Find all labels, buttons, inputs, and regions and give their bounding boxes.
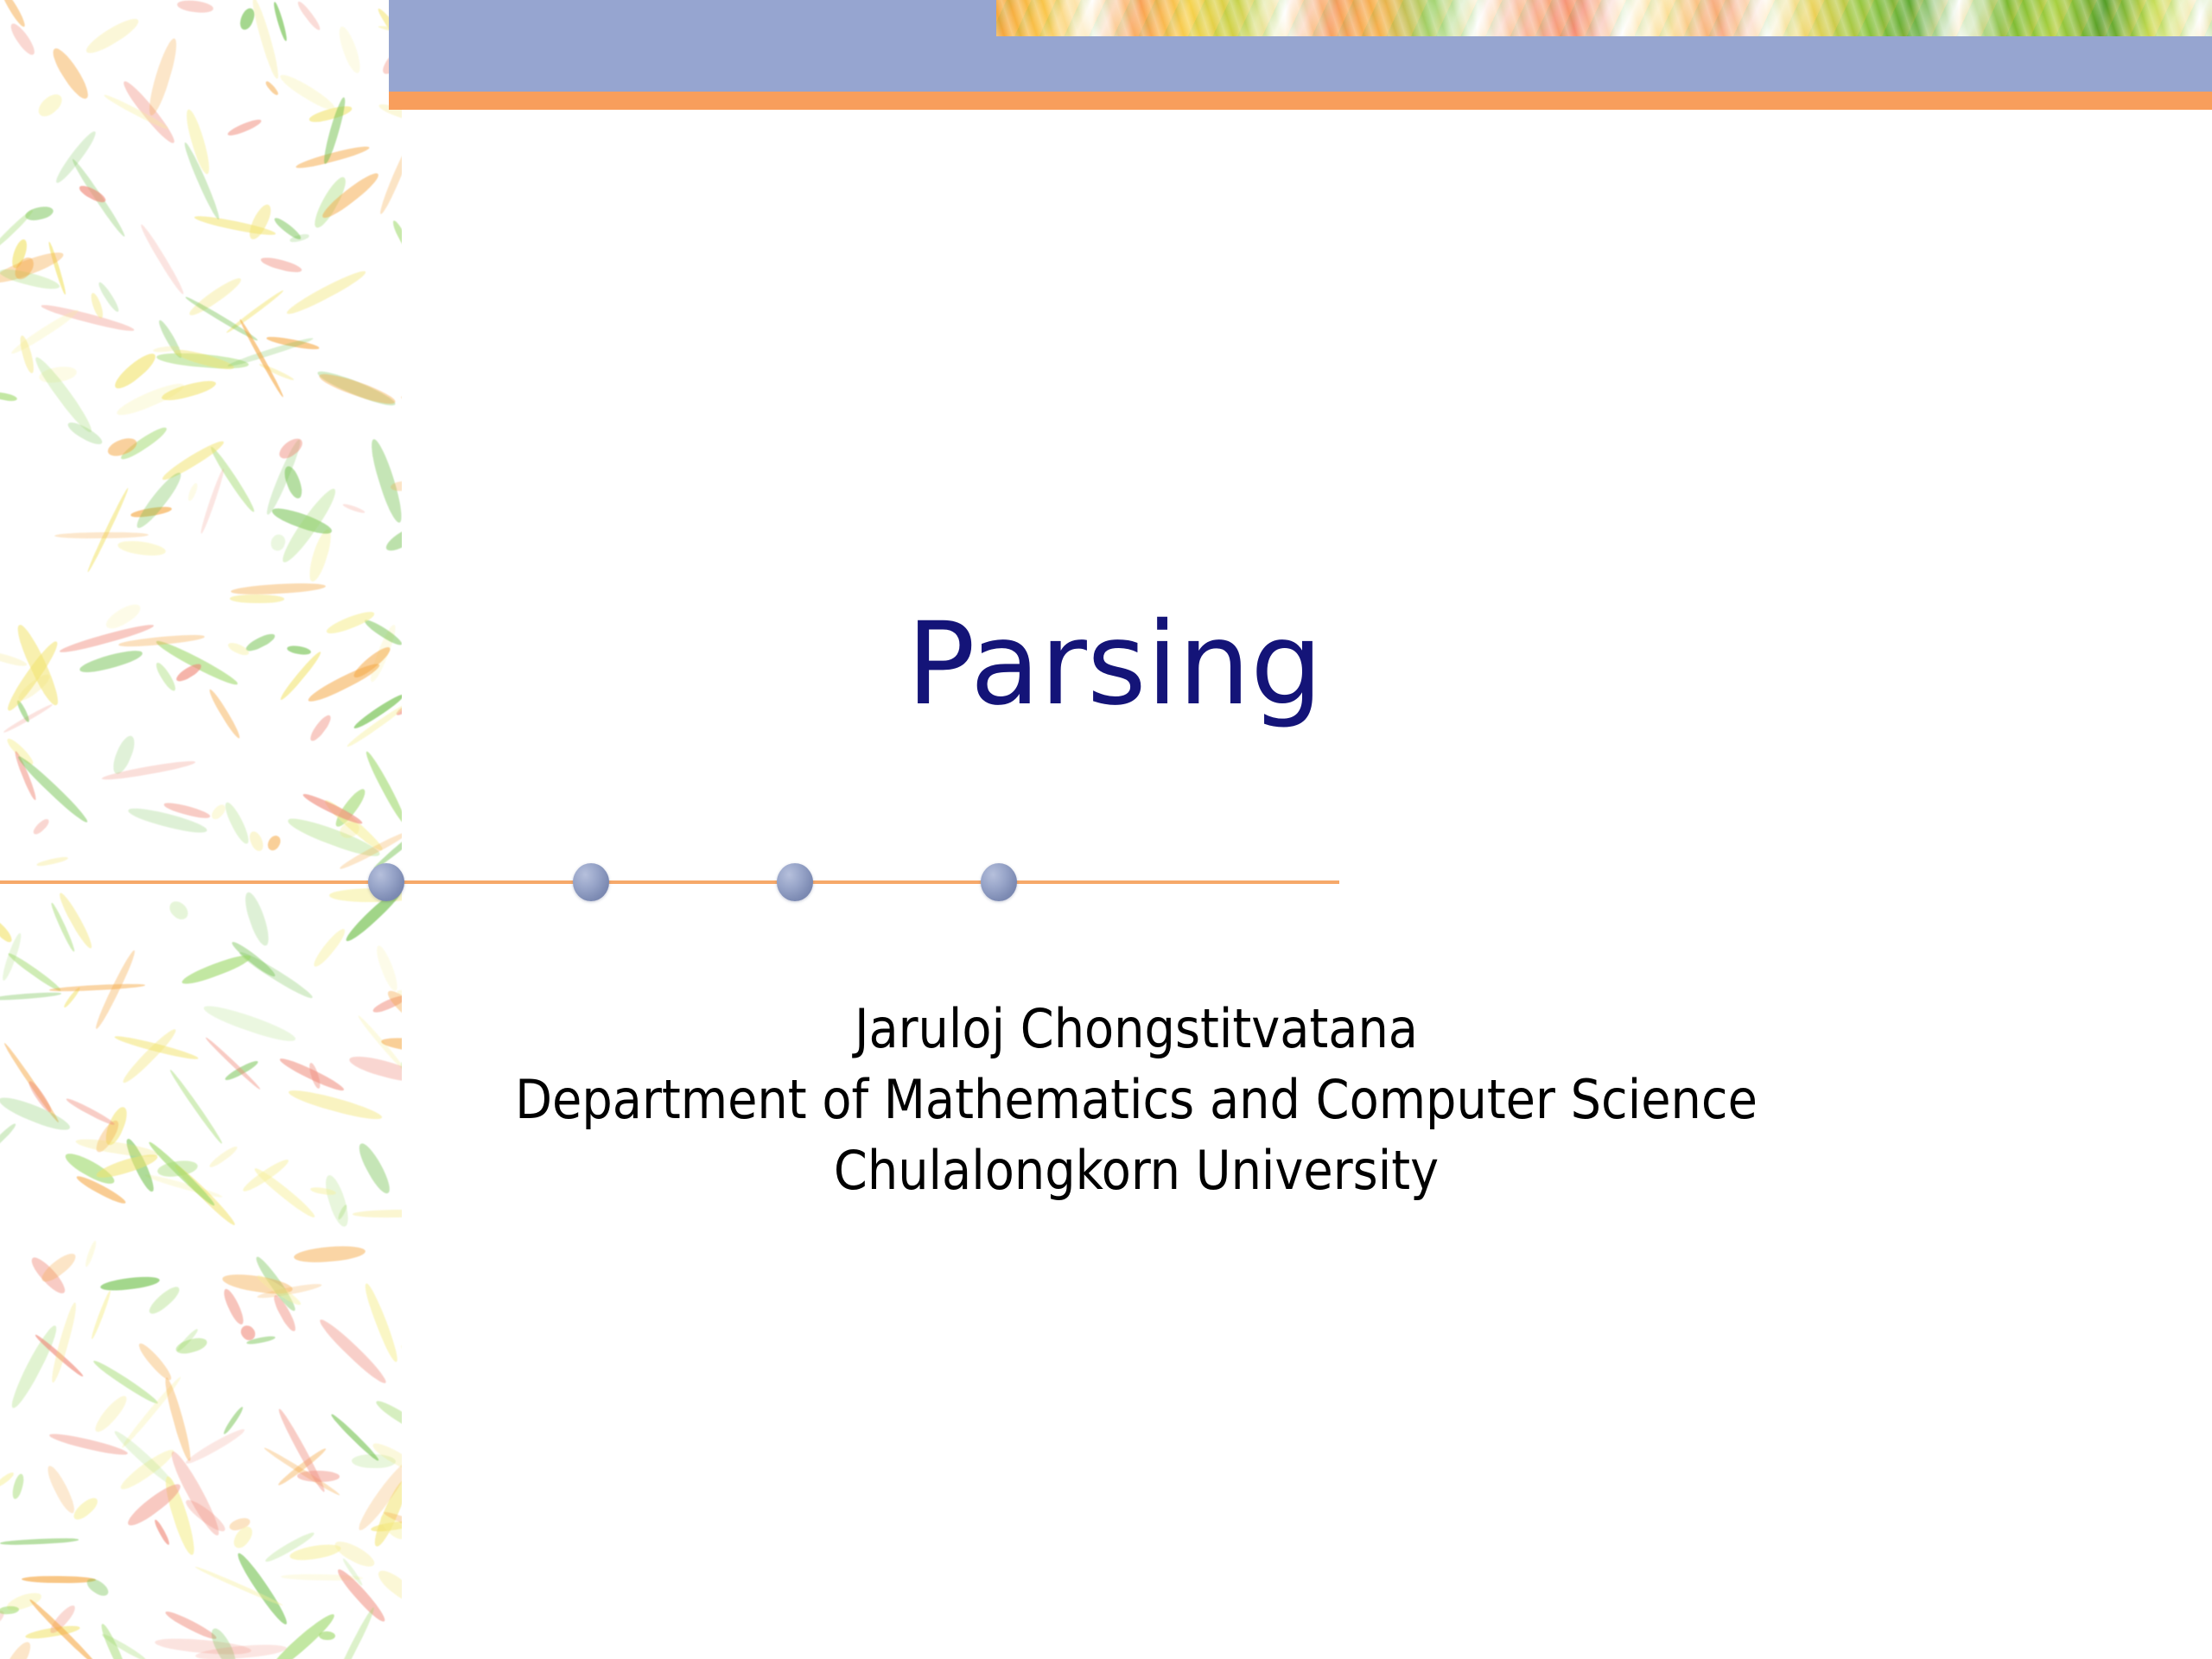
confetti-stroke: [181, 142, 222, 222]
divider-bead-1: [368, 863, 404, 901]
confetti-stroke: [297, 1471, 340, 1482]
confetti-stroke: [15, 753, 91, 826]
confetti-stroke: [222, 1406, 245, 1436]
confetti-stroke: [118, 1446, 178, 1494]
confetti-stroke: [308, 1062, 322, 1090]
confetti-stroke: [259, 255, 302, 275]
confetti-stroke: [244, 631, 276, 654]
confetti-stroke: [10, 1472, 26, 1500]
confetti-stroke: [74, 1173, 127, 1206]
confetti-stroke: [162, 1376, 194, 1462]
confetti-stroke: [332, 1606, 377, 1659]
confetti-stroke: [230, 938, 277, 979]
confetti-stroke: [160, 437, 226, 484]
confetti-stroke: [293, 1244, 365, 1265]
confetti-stroke: [276, 1408, 327, 1493]
confetti-stroke: [255, 1273, 302, 1308]
confetti-stroke: [6, 951, 62, 994]
confetti-stroke: [207, 445, 257, 514]
confetti-stroke: [0, 1122, 17, 1152]
confetti-stroke: [222, 800, 252, 846]
title-block: Parsing: [402, 605, 1827, 725]
confetti-stroke: [54, 531, 149, 539]
confetti-stroke: [36, 855, 68, 867]
confetti-stroke: [167, 1448, 225, 1539]
header-banner-band: [389, 0, 2212, 92]
confetti-stroke: [378, 1511, 402, 1542]
confetti-stroke: [373, 944, 401, 993]
colorful-abstract-photo-strip: [996, 0, 2212, 36]
confetti-stroke: [103, 600, 143, 632]
confetti-stroke: [16, 671, 54, 704]
confetti-stroke: [184, 1427, 246, 1467]
confetti-stroke: [52, 129, 99, 186]
confetti-stroke: [400, 395, 402, 428]
subtitle-university: Chulalongkorn University: [402, 1135, 1871, 1206]
confetti-stroke: [66, 419, 105, 448]
confetti-stroke: [48, 241, 68, 296]
confetti-stroke: [77, 182, 107, 205]
confetti-stroke: [309, 174, 349, 230]
confetti-stroke: [363, 750, 402, 827]
confetti-stroke: [319, 1631, 335, 1641]
confetti-stroke: [351, 644, 393, 682]
confetti-stroke: [278, 1055, 346, 1094]
confetti-stroke: [341, 1557, 364, 1586]
confetti-stroke: [311, 926, 349, 969]
confetti-stroke: [247, 829, 265, 853]
confetti-stroke: [324, 608, 376, 637]
confetti-stroke: [226, 117, 264, 138]
confetti-stroke: [221, 1287, 247, 1326]
confetti-stroke: [147, 1139, 217, 1207]
confetti-stroke: [99, 1623, 130, 1659]
confetti-stroke: [334, 24, 364, 75]
confetti-stroke: [175, 1328, 199, 1353]
confetti-stroke: [322, 797, 385, 853]
confetti-stroke: [65, 1096, 116, 1128]
confetti-stroke: [3, 1042, 60, 1124]
confetti-stroke: [38, 1249, 79, 1287]
confetti-stroke: [155, 1636, 252, 1657]
confetti-stroke: [319, 169, 382, 222]
confetti-stroke: [25, 1624, 80, 1642]
confetti-stroke: [241, 890, 273, 948]
confetti-stroke: [0, 1537, 79, 1546]
confetti-stroke: [202, 1001, 298, 1046]
confetti-stroke: [391, 219, 402, 253]
confetti-stroke: [384, 986, 402, 1037]
slide-title: Parsing: [402, 605, 1827, 725]
divider-bead-4: [981, 863, 1017, 901]
confetti-stroke: [277, 71, 339, 115]
confetti-stroke: [371, 1440, 402, 1476]
confetti-stroke: [308, 103, 353, 124]
confetti-stroke: [199, 467, 226, 534]
confetti-stroke: [153, 660, 178, 692]
confetti-stroke: [114, 1033, 200, 1063]
confetti-stroke: [287, 1086, 384, 1124]
confetti-stroke: [186, 482, 198, 502]
confetti-stroke: [226, 289, 285, 334]
confetti-stroke: [224, 1058, 259, 1082]
confetti-stroke: [38, 365, 79, 385]
confetti-stroke: [75, 1135, 160, 1160]
confetti-stroke: [89, 1289, 111, 1339]
header-orange-rule: [389, 92, 2212, 110]
confetti-stroke: [399, 1339, 402, 1374]
confetti-stroke: [351, 1454, 395, 1469]
confetti-stroke: [12, 622, 63, 709]
confetti-stroke: [354, 1457, 402, 1534]
confetti-stroke: [43, 1463, 78, 1516]
confetti-stroke: [338, 820, 362, 842]
confetti-stroke: [0, 649, 28, 668]
confetti-stroke: [270, 505, 334, 538]
confetti-stroke: [278, 649, 324, 702]
confetti-stroke: [111, 1428, 176, 1489]
confetti-stroke: [97, 281, 121, 314]
confetti-stroke: [63, 987, 82, 1009]
confetti-stroke: [287, 644, 312, 656]
confetti-stroke: [317, 369, 397, 408]
confetti-stroke: [144, 36, 181, 118]
confetti-stroke: [95, 1150, 160, 1182]
confetti-stroke: [316, 1316, 390, 1388]
confetti-stroke: [282, 464, 305, 500]
confetti-stroke: [346, 702, 402, 749]
confetti-stroke: [126, 804, 208, 836]
confetti-stroke: [276, 435, 305, 463]
confetti-stroke: [34, 1333, 85, 1379]
confetti-stroke: [252, 1166, 318, 1221]
confetti-stroke: [49, 983, 145, 993]
confetti-stroke: [172, 346, 234, 372]
confetti-stroke: [71, 1495, 101, 1523]
confetti-stroke: [209, 803, 228, 823]
confetti-stroke: [27, 1079, 54, 1115]
confetti-stroke: [22, 1575, 96, 1583]
confetti-stroke: [29, 1598, 99, 1659]
confetti-stroke: [289, 1541, 342, 1563]
confetti-stroke: [309, 1186, 336, 1197]
confetti-stroke: [264, 438, 303, 516]
confetti-stroke: [155, 637, 240, 688]
confetti-stroke: [228, 1516, 251, 1534]
confetti-stroke: [342, 503, 365, 515]
confetti-stroke: [0, 391, 17, 403]
confetti-stroke: [132, 469, 186, 532]
confetti-stroke: [119, 78, 178, 147]
confetti-stroke: [86, 487, 130, 573]
confetti-stroke: [28, 1253, 69, 1297]
confetti-stroke: [264, 1530, 316, 1566]
subtitle-block: Jaruloj Chongstitvatana Department of Ma…: [402, 994, 1871, 1205]
confetti-stroke: [31, 817, 51, 836]
confetti-stroke: [395, 701, 402, 716]
confetti-stroke: [5, 1590, 44, 1614]
confetti-stroke: [208, 1145, 239, 1170]
confetti-stroke: [266, 334, 320, 351]
confetti-stroke: [229, 594, 283, 602]
confetti-stroke: [0, 917, 15, 944]
confetti-stroke: [56, 891, 95, 950]
confetti-stroke: [111, 349, 159, 393]
decorative-divider: [0, 879, 1339, 884]
confetti-stroke: [184, 295, 258, 342]
confetti-stroke: [270, 1294, 298, 1333]
confetti-stroke: [48, 45, 92, 102]
confetti-stroke: [115, 378, 188, 420]
confetti-stroke: [226, 641, 251, 658]
confetti-stroke: [281, 1573, 363, 1581]
confetti-stroke: [59, 621, 155, 656]
confetti-stroke: [3, 703, 54, 735]
confetti-stroke: [269, 532, 287, 552]
confetti-stroke: [356, 1014, 402, 1071]
confetti-stroke: [4, 736, 35, 767]
confetti-stroke: [371, 1519, 402, 1533]
confetti-stroke: [295, 143, 371, 172]
confetti-stroke: [176, 0, 213, 14]
confetti-stroke: [204, 1036, 261, 1091]
confetti-stroke: [105, 435, 138, 460]
confetti-stroke: [322, 1173, 353, 1230]
confetti-stroke: [8, 21, 38, 58]
confetti-stroke: [231, 582, 327, 596]
confetti-stroke: [276, 1446, 327, 1488]
confetti-stroke: [0, 1609, 6, 1630]
confetti-stroke: [153, 1518, 171, 1546]
confetti-stroke: [118, 423, 169, 463]
confetti-stroke: [0, 1638, 35, 1659]
confetti-stroke: [174, 662, 202, 684]
confetti-stroke: [321, 96, 348, 165]
confetti-stroke: [257, 1281, 322, 1300]
confetti-stroke: [265, 833, 283, 852]
confetti-stroke: [83, 14, 143, 58]
confetti-stroke: [377, 137, 402, 215]
confetti-stroke: [40, 302, 135, 334]
confetti-stroke: [332, 1537, 378, 1571]
confetti-stroke: [195, 1643, 288, 1659]
confetti-stroke: [24, 204, 54, 222]
confetti-stroke: [180, 951, 253, 989]
confetti-stroke: [153, 346, 180, 353]
confetti-brushstroke-border: [0, 0, 402, 1659]
confetti-stroke: [92, 1357, 160, 1406]
confetti-stroke: [334, 1566, 389, 1625]
confetti-stroke: [381, 1035, 402, 1057]
divider-bead-3: [777, 863, 813, 901]
confetti-stroke: [101, 759, 196, 783]
confetti-stroke: [315, 367, 398, 411]
confetti-stroke: [238, 6, 257, 31]
confetti-stroke: [168, 1069, 224, 1146]
confetti-stroke: [161, 1475, 199, 1557]
confetti-stroke: [207, 688, 243, 740]
confetti-stroke: [0, 265, 61, 292]
confetti-stroke: [366, 437, 402, 524]
confetti-stroke: [245, 202, 274, 242]
confetti-stroke: [48, 1431, 129, 1459]
confetti-stroke: [305, 659, 382, 706]
confetti-stroke: [194, 213, 276, 238]
confetti-stroke: [330, 1412, 381, 1462]
confetti-stroke: [347, 1052, 402, 1085]
confetti-stroke: [241, 1157, 291, 1195]
confetti-stroke: [252, 1255, 299, 1314]
confetti-stroke: [163, 800, 212, 820]
divider-bead-2: [573, 863, 609, 901]
confetti-stroke: [62, 1148, 118, 1188]
confetti-stroke: [187, 275, 244, 319]
confetti-stroke: [156, 351, 249, 372]
confetti-stroke: [119, 1026, 179, 1086]
confetti-stroke: [172, 1162, 238, 1229]
confetti-stroke: [47, 1602, 78, 1636]
confetti-stroke: [146, 1284, 182, 1318]
confetti-stroke: [0, 932, 24, 982]
confetti-stroke: [277, 484, 341, 566]
subtitle-author: Jaruloj Chongstitvatana: [402, 994, 1871, 1065]
confetti-stroke: [332, 786, 369, 830]
confetti-stroke: [286, 813, 383, 861]
confetti-stroke: [0, 208, 35, 252]
confetti-stroke: [374, 1397, 402, 1439]
confetti-stroke: [302, 791, 364, 827]
confetti-stroke: [92, 1118, 122, 1155]
confetti-stroke: [258, 362, 295, 382]
confetti-stroke: [263, 1446, 341, 1497]
confetti-stroke: [70, 157, 128, 238]
subtitle-department: Department of Mathematics and Computer S…: [402, 1065, 1871, 1135]
confetti-stroke: [117, 538, 167, 558]
confetti-stroke: [7, 1323, 61, 1411]
confetti-stroke: [265, 1610, 338, 1659]
confetti-stroke: [383, 1509, 402, 1547]
confetti-stroke: [354, 1141, 394, 1197]
confetti-stroke: [238, 1323, 257, 1344]
confetti-stroke: [100, 1632, 147, 1659]
confetti-stroke: [11, 254, 37, 283]
confetti-stroke: [16, 699, 31, 722]
confetti-stroke: [85, 1575, 111, 1599]
confetti-stroke: [352, 692, 402, 731]
confetti-stroke: [337, 1204, 349, 1221]
confetti-stroke: [0, 1092, 73, 1135]
confetti-stroke: [0, 1470, 16, 1488]
confetti-stroke: [3, 638, 62, 714]
confetti-stroke: [84, 1239, 98, 1267]
confetti-stroke: [207, 1626, 240, 1659]
confetti-stroke: [308, 713, 334, 744]
confetti-stroke: [250, 0, 282, 80]
confetti-stroke: [306, 527, 335, 583]
confetti-stroke: [164, 1608, 219, 1642]
confetti-stroke: [35, 91, 65, 120]
confetti-stroke: [353, 1210, 402, 1218]
confetti-stroke: [91, 1392, 130, 1435]
confetti-stroke: [383, 522, 402, 556]
confetti-stroke: [103, 92, 169, 130]
confetti-stroke: [160, 378, 217, 404]
confetti-stroke: [182, 1496, 227, 1535]
confetti-stroke: [10, 238, 30, 270]
confetti-stroke: [391, 480, 402, 492]
confetti-stroke: [0, 1605, 20, 1615]
confetti-stroke: [119, 1375, 182, 1449]
confetti-stroke: [272, 215, 302, 241]
confetti-stroke: [136, 1340, 175, 1383]
confetti-stroke: [101, 1105, 130, 1147]
confetti-stroke: [221, 1271, 294, 1297]
confetti-stroke: [0, 0, 28, 29]
confetti-stroke: [233, 1550, 290, 1627]
confetti-stroke: [371, 1477, 402, 1548]
confetti-stroke: [156, 319, 185, 360]
confetti-stroke: [30, 353, 95, 435]
confetti-stroke: [264, 80, 279, 96]
confetti-stroke: [194, 1565, 283, 1607]
confetti-stroke: [49, 902, 76, 953]
confetti-stroke: [167, 898, 192, 923]
confetti-stroke: [100, 1274, 161, 1294]
confetti-stroke: [230, 1523, 255, 1551]
confetti-stroke: [118, 632, 205, 648]
confetti-stroke: [0, 991, 61, 1001]
confetti-stroke: [124, 1479, 185, 1530]
confetti-stroke: [296, 0, 322, 32]
confetti-stroke: [89, 291, 105, 319]
confetti-stroke: [284, 266, 368, 318]
confetti-stroke: [10, 307, 80, 357]
confetti-stroke: [109, 734, 138, 777]
confetti-stroke: [396, 986, 402, 1020]
confetti-stroke: [130, 505, 173, 518]
divider-line: [0, 880, 1339, 884]
presentation-slide: Parsing Jaruloj Chongstitvatana Departme…: [0, 0, 2212, 1659]
confetti-stroke: [362, 617, 402, 648]
confetti-stroke: [0, 247, 67, 288]
confetti-stroke: [156, 1158, 199, 1179]
confetti-stroke: [175, 1335, 209, 1356]
confetti-stroke: [374, 1566, 402, 1607]
confetti-stroke: [12, 750, 37, 801]
confetti-stroke: [143, 1172, 222, 1199]
confetti-stroke: [367, 623, 400, 684]
confetti-stroke: [93, 949, 138, 1030]
confetti-stroke: [238, 318, 285, 398]
confetti-stroke: [78, 646, 143, 676]
confetti-stroke: [124, 1137, 158, 1194]
confetti-stroke: [246, 1335, 276, 1346]
confetti-stroke: [183, 108, 214, 176]
confetti-stroke: [138, 223, 186, 296]
confetti-stroke: [272, 2, 289, 42]
confetti-stroke: [49, 1302, 79, 1384]
confetti-stroke: [289, 232, 309, 243]
confetti-stroke: [237, 948, 315, 1001]
confetti-stroke: [226, 335, 315, 369]
confetti-stroke: [372, 993, 402, 1014]
confetti-stroke: [362, 1281, 402, 1363]
confetti-stroke: [18, 334, 36, 374]
